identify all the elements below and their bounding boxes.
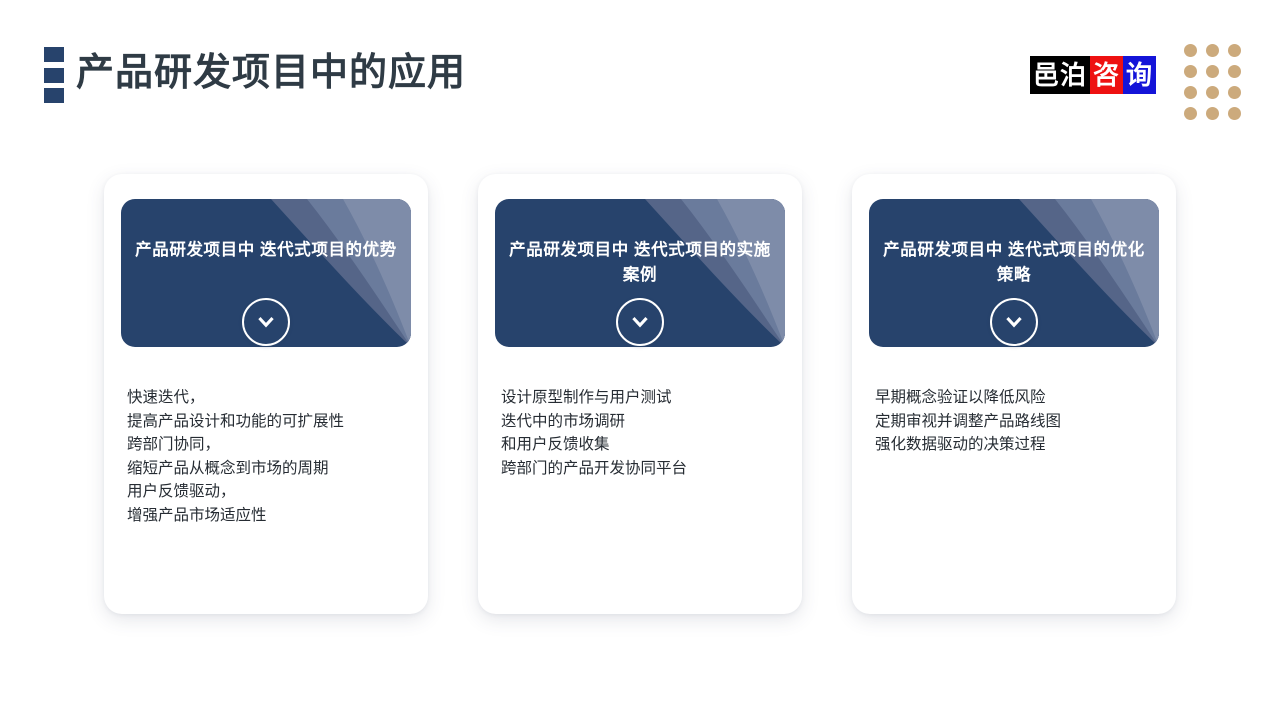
- brand-logo: 邑泊 咨 询: [1030, 56, 1156, 94]
- cards-row: 产品研发项目中 迭代式项目的优势 快速迭代， 提高产品设计和功能的可扩展性 跨部…: [104, 174, 1176, 614]
- content-card[interactable]: 产品研发项目中 迭代式项目的优化策略 早期概念验证以降低风险 定期审视并调整产品…: [852, 174, 1176, 614]
- card-title: 产品研发项目中 迭代式项目的优势: [121, 238, 411, 263]
- content-card[interactable]: 产品研发项目中 迭代式项目的优势 快速迭代， 提高产品设计和功能的可扩展性 跨部…: [104, 174, 428, 614]
- dot: [1184, 65, 1197, 78]
- dot: [1228, 107, 1241, 120]
- logo-text-red: 咨: [1090, 56, 1123, 94]
- card-body-text: 早期概念验证以降低风险 定期审视并调整产品路线图 强化数据驱动的决策过程: [875, 386, 1162, 457]
- dot: [1206, 65, 1219, 78]
- dot-grid-icon: [1184, 44, 1241, 120]
- logo-text-black: 邑泊: [1030, 56, 1090, 94]
- dot: [1206, 44, 1219, 57]
- dot: [1184, 86, 1197, 99]
- chevron-down-icon[interactable]: [616, 298, 664, 346]
- dot: [1184, 44, 1197, 57]
- logo-text-blue: 询: [1123, 56, 1156, 94]
- dot: [1206, 107, 1219, 120]
- dot: [1228, 65, 1241, 78]
- square-3: [44, 88, 64, 103]
- slide-header: 产品研发项目中的应用 邑泊 咨 询: [0, 0, 1280, 140]
- dot: [1228, 86, 1241, 99]
- three-squares-icon: [44, 47, 64, 103]
- card-body-text: 快速迭代， 提高产品设计和功能的可扩展性 跨部门协同， 缩短产品从概念到市场的周…: [127, 386, 414, 527]
- content-card[interactable]: 产品研发项目中 迭代式项目的实施案例 设计原型制作与用户测试 迭代中的市场调研 …: [478, 174, 802, 614]
- card-body-text: 设计原型制作与用户测试 迭代中的市场调研 和用户反馈收集 跨部门的产品开发协同平…: [501, 386, 788, 480]
- dot: [1228, 44, 1241, 57]
- card-title: 产品研发项目中 迭代式项目的优化策略: [869, 238, 1159, 288]
- card-title: 产品研发项目中 迭代式项目的实施案例: [495, 238, 785, 288]
- square-2: [44, 68, 64, 83]
- chevron-down-icon[interactable]: [990, 298, 1038, 346]
- dot: [1206, 86, 1219, 99]
- square-1: [44, 47, 64, 62]
- page-title: 产品研发项目中的应用: [76, 46, 466, 100]
- chevron-down-icon[interactable]: [242, 298, 290, 346]
- dot: [1184, 107, 1197, 120]
